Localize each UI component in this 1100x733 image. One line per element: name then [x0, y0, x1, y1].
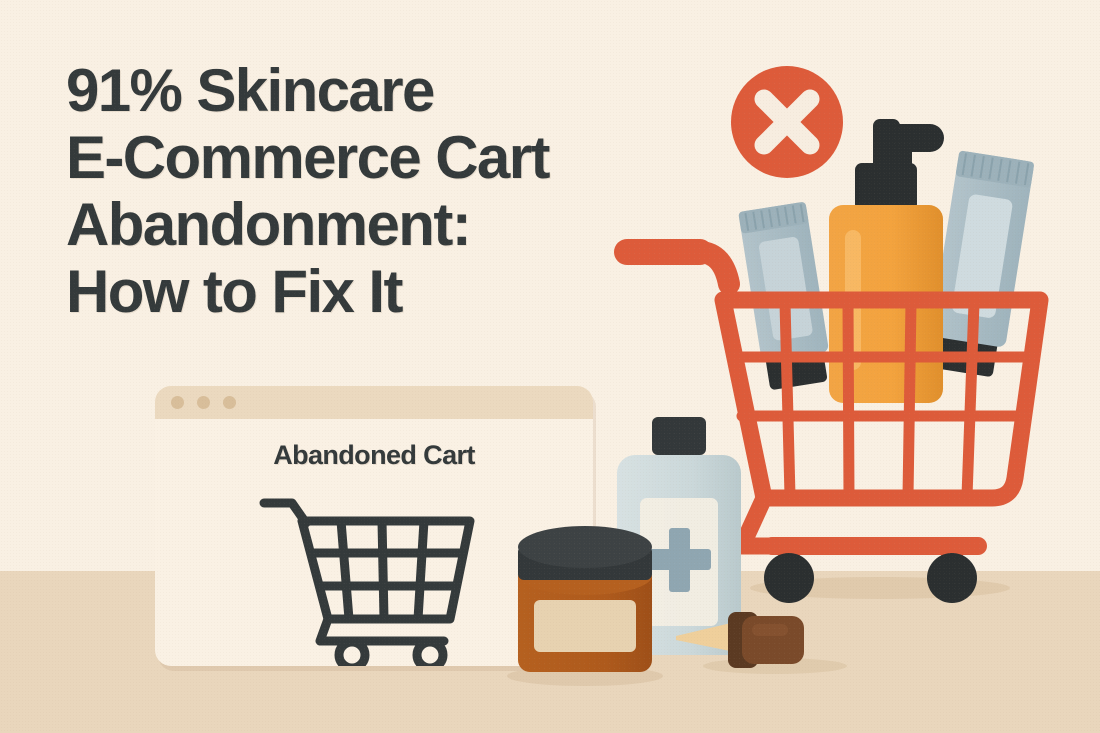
main-illustration: [0, 0, 1100, 733]
cart-wheel-left: [764, 553, 814, 603]
x-circle-icon: [731, 66, 843, 178]
amber-cream-jar: [518, 526, 652, 672]
illustration-scene: 91% Skincare E-Commerce Cart Abandonment…: [0, 0, 1100, 733]
cart-wheel-right: [927, 553, 977, 603]
